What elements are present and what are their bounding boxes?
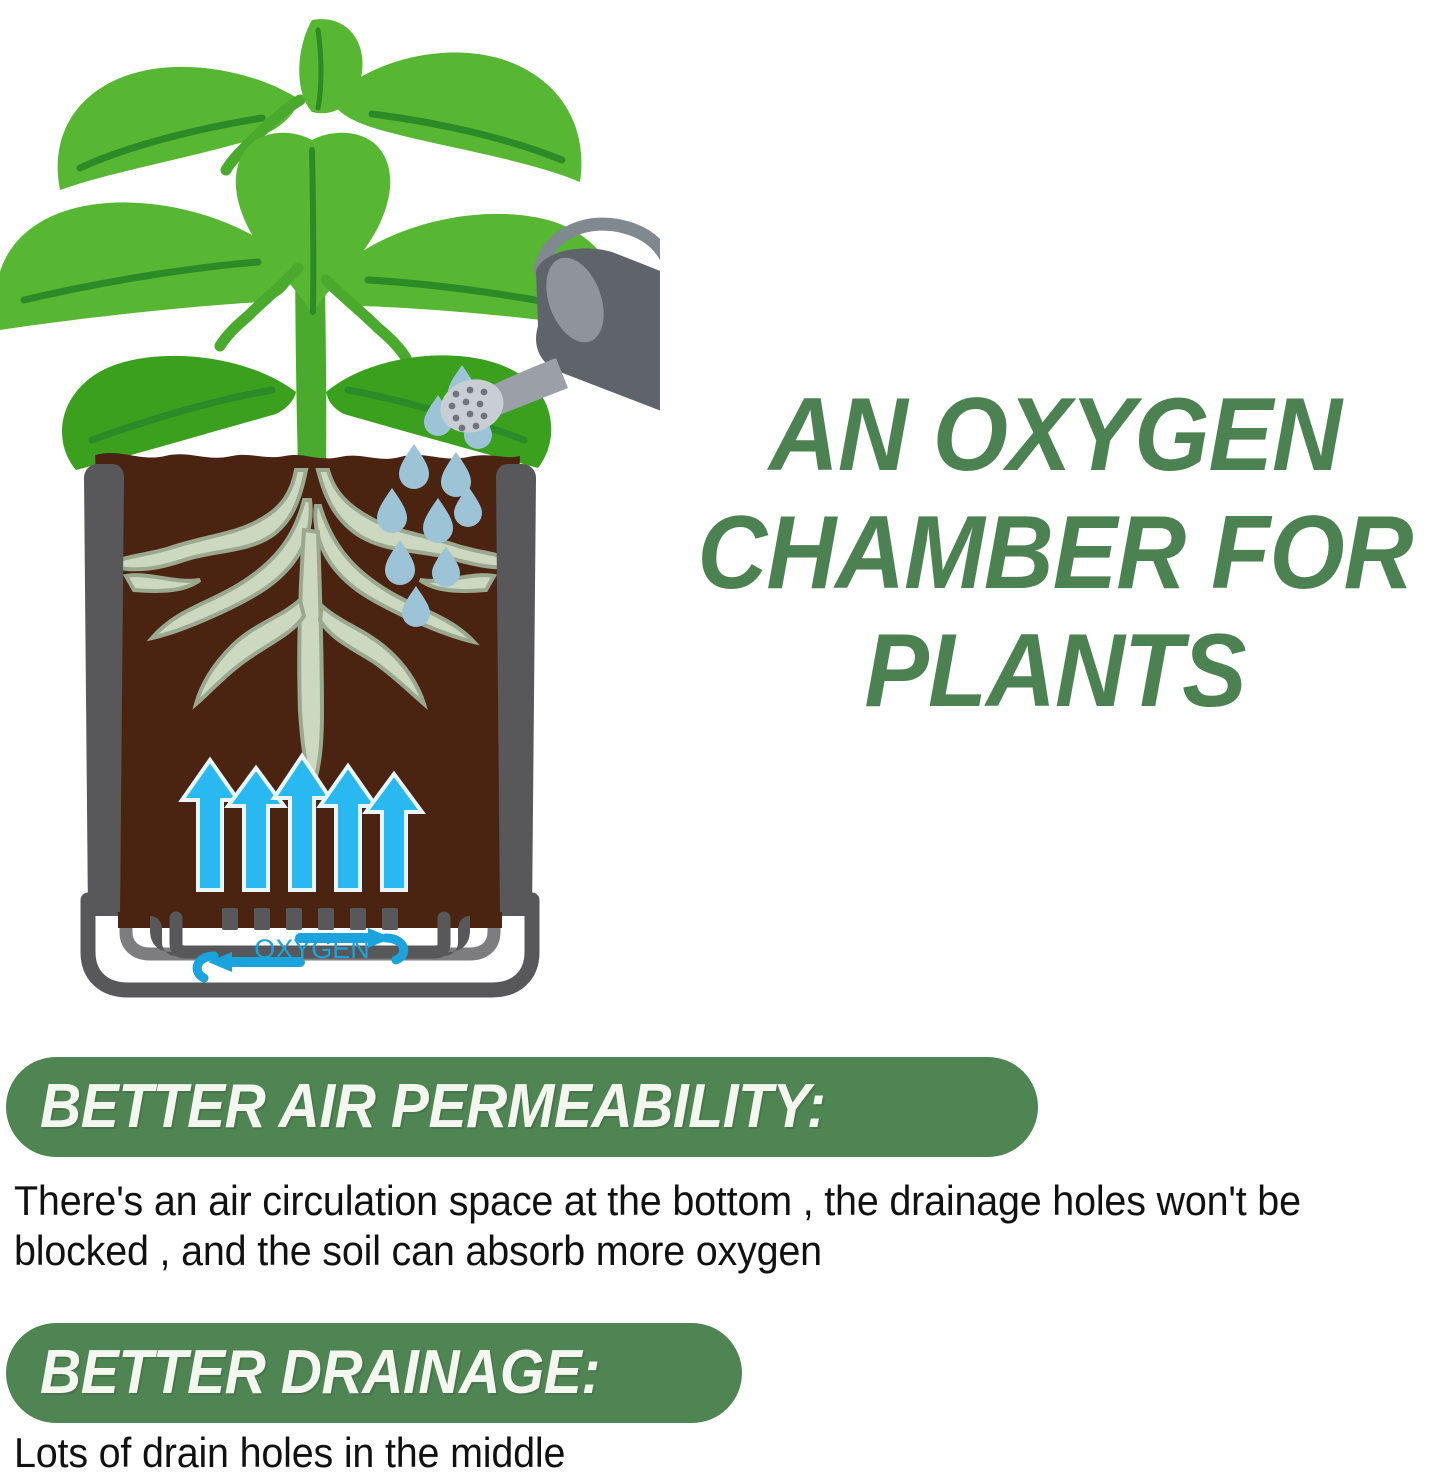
page-title: AN OXYGEN CHAMBER FOR PLANTS bbox=[665, 376, 1445, 730]
pot-wall-right bbox=[496, 464, 536, 916]
pot-wall-left bbox=[84, 464, 124, 916]
drain-hole bbox=[318, 908, 334, 930]
infographic-page: OXYGEN bbox=[0, 0, 1445, 1473]
oxygen-swirl-left bbox=[197, 956, 214, 978]
feature-banner-label: BETTER AIR PERMEABILITY: bbox=[40, 1076, 825, 1138]
leaf-vein bbox=[312, 150, 313, 312]
plant-pot-illustration: OXYGEN bbox=[0, 0, 660, 1020]
oxygen-arrowhead-right bbox=[368, 928, 392, 948]
drain-hole bbox=[286, 908, 302, 930]
oxygen-label: OXYGEN bbox=[254, 934, 370, 964]
drain-hole bbox=[254, 908, 270, 930]
pot-body-group: OXYGEN bbox=[84, 365, 536, 978]
headline-line-2: CHAMBER FOR bbox=[692, 494, 1417, 612]
feature-banner-drainage: BETTER DRAINAGE: bbox=[6, 1323, 742, 1423]
drain-hole bbox=[382, 908, 398, 930]
feature-body-air-permeability: There's an air circulation space at the … bbox=[14, 1176, 1443, 1276]
feature-banner-label: BETTER DRAINAGE: bbox=[40, 1342, 600, 1404]
feature-body-drainage: Lots of drain holes in the middle bbox=[14, 1428, 954, 1473]
feature-banner-air-permeability: BETTER AIR PERMEABILITY: bbox=[6, 1057, 1038, 1157]
water-drop bbox=[399, 444, 429, 489]
root-taproot bbox=[299, 530, 322, 790]
drain-hole bbox=[222, 908, 238, 930]
headline-line-3: PLANTS bbox=[692, 612, 1417, 730]
headline-line-1: AN OXYGEN bbox=[692, 376, 1417, 494]
drain-hole bbox=[350, 908, 366, 930]
